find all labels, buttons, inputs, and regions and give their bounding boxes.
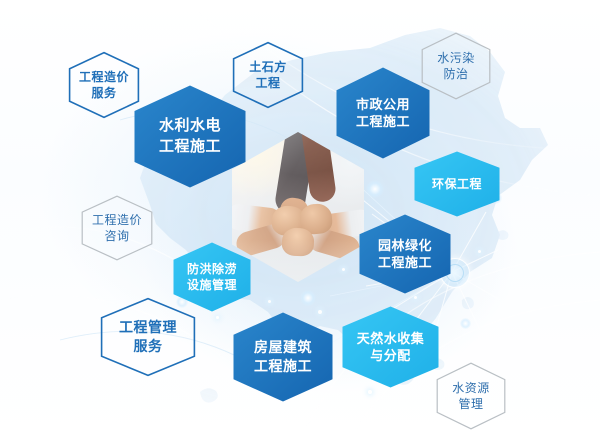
hexagon-shape: [360, 215, 451, 294]
hexagon-water-pollution-control[interactable]: 水污染防治: [421, 32, 491, 100]
hexagon-shape: [437, 363, 505, 429]
hexagon-shape: [82, 196, 152, 260]
hexagon-building-construction[interactable]: 房屋建筑工程施工: [233, 312, 333, 402]
hexagon-shape: [343, 307, 439, 388]
hexagon-shape: [337, 68, 430, 159]
hexagon-shape: [70, 53, 139, 118]
sparkle-dot: [216, 316, 219, 319]
capability-hexagon-infographic: 工程造价服务土石方工程水利水电工程施工市政公用工程施工水污染防治环保工程工程造价…: [0, 0, 600, 439]
hexagon-engineering-cost-consulting[interactable]: 工程造价咨询: [81, 195, 153, 261]
hexagon-shape: [422, 33, 490, 99]
hexagon-engineering-management-service[interactable]: 工程管理服务: [100, 297, 196, 377]
hexagon-water-conservancy-hydropower-construction[interactable]: 水利水电工程施工: [134, 85, 246, 188]
hexagon-water-resources-management[interactable]: 水资源管理: [436, 362, 506, 430]
hexagon-municipal-public-works-construction[interactable]: 市政公用工程施工: [336, 67, 430, 159]
hexagon-engineering-cost-service[interactable]: 工程造价服务: [68, 51, 140, 119]
sparkle-dot: [268, 300, 271, 303]
hexagon-shape: [234, 313, 333, 402]
hexagon-environmental-protection-engineering[interactable]: 环保工程: [414, 151, 500, 217]
hexagon-natural-water-collection-distribution[interactable]: 天然水收集与分配: [342, 306, 439, 388]
sparkle-dot: [368, 390, 372, 394]
hexagon-shape: [415, 152, 500, 217]
sparkle-dot: [478, 250, 481, 253]
hexagon-shape: [102, 299, 195, 376]
sparkle-dot: [414, 296, 417, 299]
hexagon-landscaping-construction[interactable]: 园林绿化工程施工: [359, 214, 451, 294]
hexagon-shape: [135, 86, 246, 188]
sparkle-dot: [342, 268, 345, 271]
